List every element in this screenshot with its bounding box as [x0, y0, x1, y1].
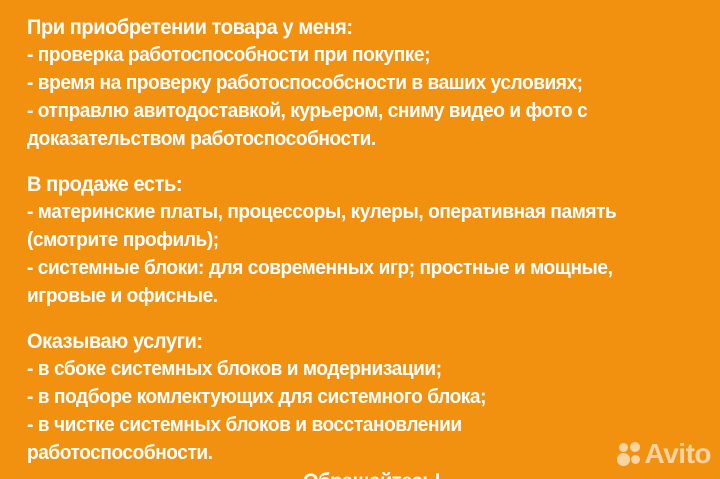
block-for-sale: В продаже есть: - материнские платы, про…	[27, 170, 704, 310]
block-purchase-terms: При приобретении товара у меня: - провер…	[27, 13, 704, 153]
block-line: - в подборе комлектующих для системного …	[27, 383, 657, 411]
block-services: Оказываю услуги: - в сбоке системных бло…	[27, 327, 704, 479]
block-line: доказательством работоспособности.	[27, 125, 657, 153]
callout-text: Обращайтесь!	[303, 467, 440, 479]
callout-row: Обращайтесь!	[27, 467, 704, 479]
block-heading: При приобретении товара у меня:	[27, 13, 657, 41]
block-line: - в чистке системных блоков и восстановл…	[27, 411, 657, 439]
block-line: - проверка работоспособности при покупке…	[27, 41, 657, 69]
block-line: - в сбоке системных блоков и модернизаци…	[27, 355, 657, 383]
block-heading: В продаже есть:	[27, 170, 657, 198]
block-heading: Оказываю услуги:	[27, 327, 657, 355]
block-line: - материнские платы, процессоры, кулеры,…	[27, 198, 657, 226]
block-line: - время на проверку работоспособсности в…	[27, 69, 657, 97]
avito-description-banner: При приобретении товара у меня: - провер…	[0, 0, 720, 479]
block-line: (смотрите профиль);	[27, 226, 657, 254]
block-line: - отправлю авитодоставкой, курьером, сни…	[27, 97, 657, 125]
block-line: работоспособности.	[27, 439, 657, 467]
block-line: игровые и офисные.	[27, 282, 657, 310]
block-line: - системные блоки: для современных игр; …	[27, 254, 657, 282]
